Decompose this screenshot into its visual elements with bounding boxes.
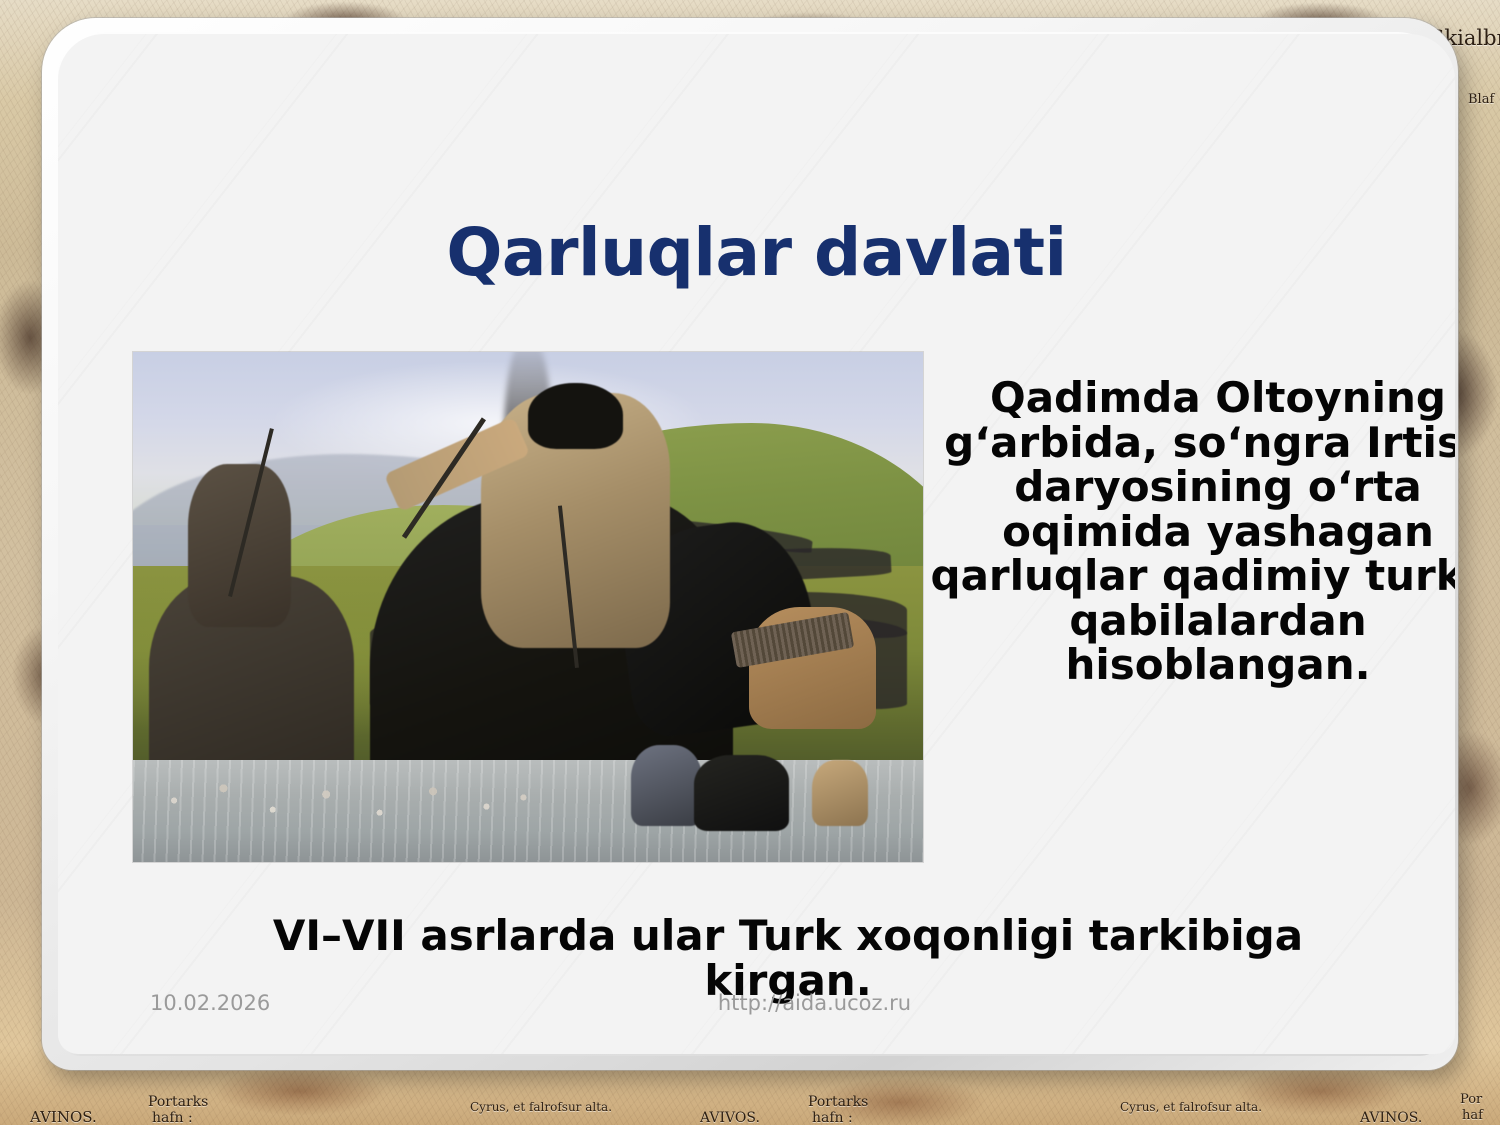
illustration-seated-figure	[812, 760, 867, 826]
slide-footer: 10.02.2026 http://aida.ucoz.ru 3	[116, 988, 1455, 1018]
illustration-pebbles	[133, 770, 544, 831]
illustration-wading-figure	[631, 745, 702, 827]
illustration-rider-hat	[528, 383, 623, 449]
slide-illustration	[133, 352, 923, 862]
illustration-artwork	[133, 352, 923, 862]
illustration-wading-horse	[694, 755, 789, 832]
page-title: Qarluqlar davlati	[58, 218, 1455, 287]
body-paragraph-right: Qadimda Oltoyning gʻarbida, soʻngra Irti…	[928, 376, 1455, 688]
slide-content-panel: Qarluqlar davlati	[58, 34, 1455, 1054]
footer-url[interactable]: http://aida.ucoz.ru	[116, 991, 1455, 1015]
presentation-slide: Skialbred.KlukaDalbrSkialbred.Skialbred.…	[0, 0, 1500, 1125]
